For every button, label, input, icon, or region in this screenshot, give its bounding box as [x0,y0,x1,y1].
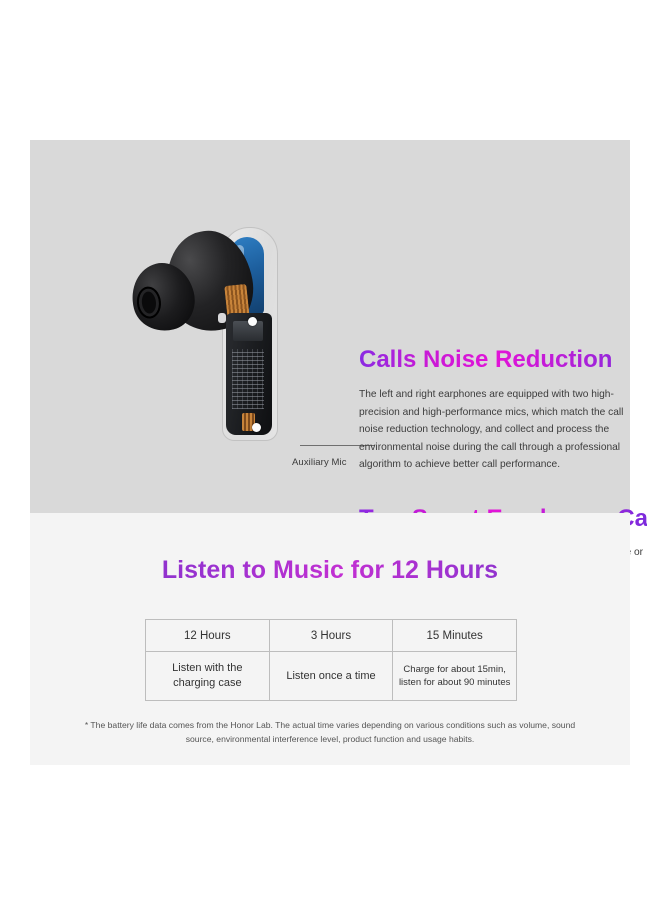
stem-nub [218,313,226,323]
earbud-stem-chamber [226,313,272,435]
table-cell-duration-3: 15 Minutes [393,620,517,652]
table-cell-description-1: Listen with the charging case [146,652,270,701]
feature-block-noise-reduction: Calls Noise Reduction The left and right… [359,345,647,474]
table-cell-description-3: Charge for about 15min, listen for about… [393,652,517,701]
pcb-circuit-traces [232,349,264,409]
auxiliary-mic-dot [248,317,257,326]
feature-body-noise-reduction: The left and right earphones are equippe… [359,386,647,474]
battery-life-table: 12 Hours 3 Hours 15 Minutes Listen with … [145,619,517,701]
battery-life-heading: Listen to Music for 12 Hours [30,556,630,585]
battery-life-panel: Listen to Music for 12 Hours 12 Hours 3 … [30,513,630,765]
table-row-descriptions: Listen with the charging case Listen onc… [146,652,517,701]
table-cell-duration-2: 3 Hours [269,620,393,652]
table-cell-duration-1: 12 Hours [146,620,270,652]
feature-heading-noise-reduction: Calls Noise Reduction [359,345,647,375]
battery-life-footnote: * The battery life data comes from the H… [75,718,585,746]
hero-panel: Auxiliary Mic Main Mic Calls Noise Reduc… [30,140,630,513]
table-cell-description-2: Listen once a time [269,652,393,701]
product-image-earbud [130,225,310,445]
auxiliary-mic-label: Auxiliary Mic [292,457,347,468]
table-row-durations: 12 Hours 3 Hours 15 Minutes [146,620,517,652]
main-mic-dot [252,423,261,432]
